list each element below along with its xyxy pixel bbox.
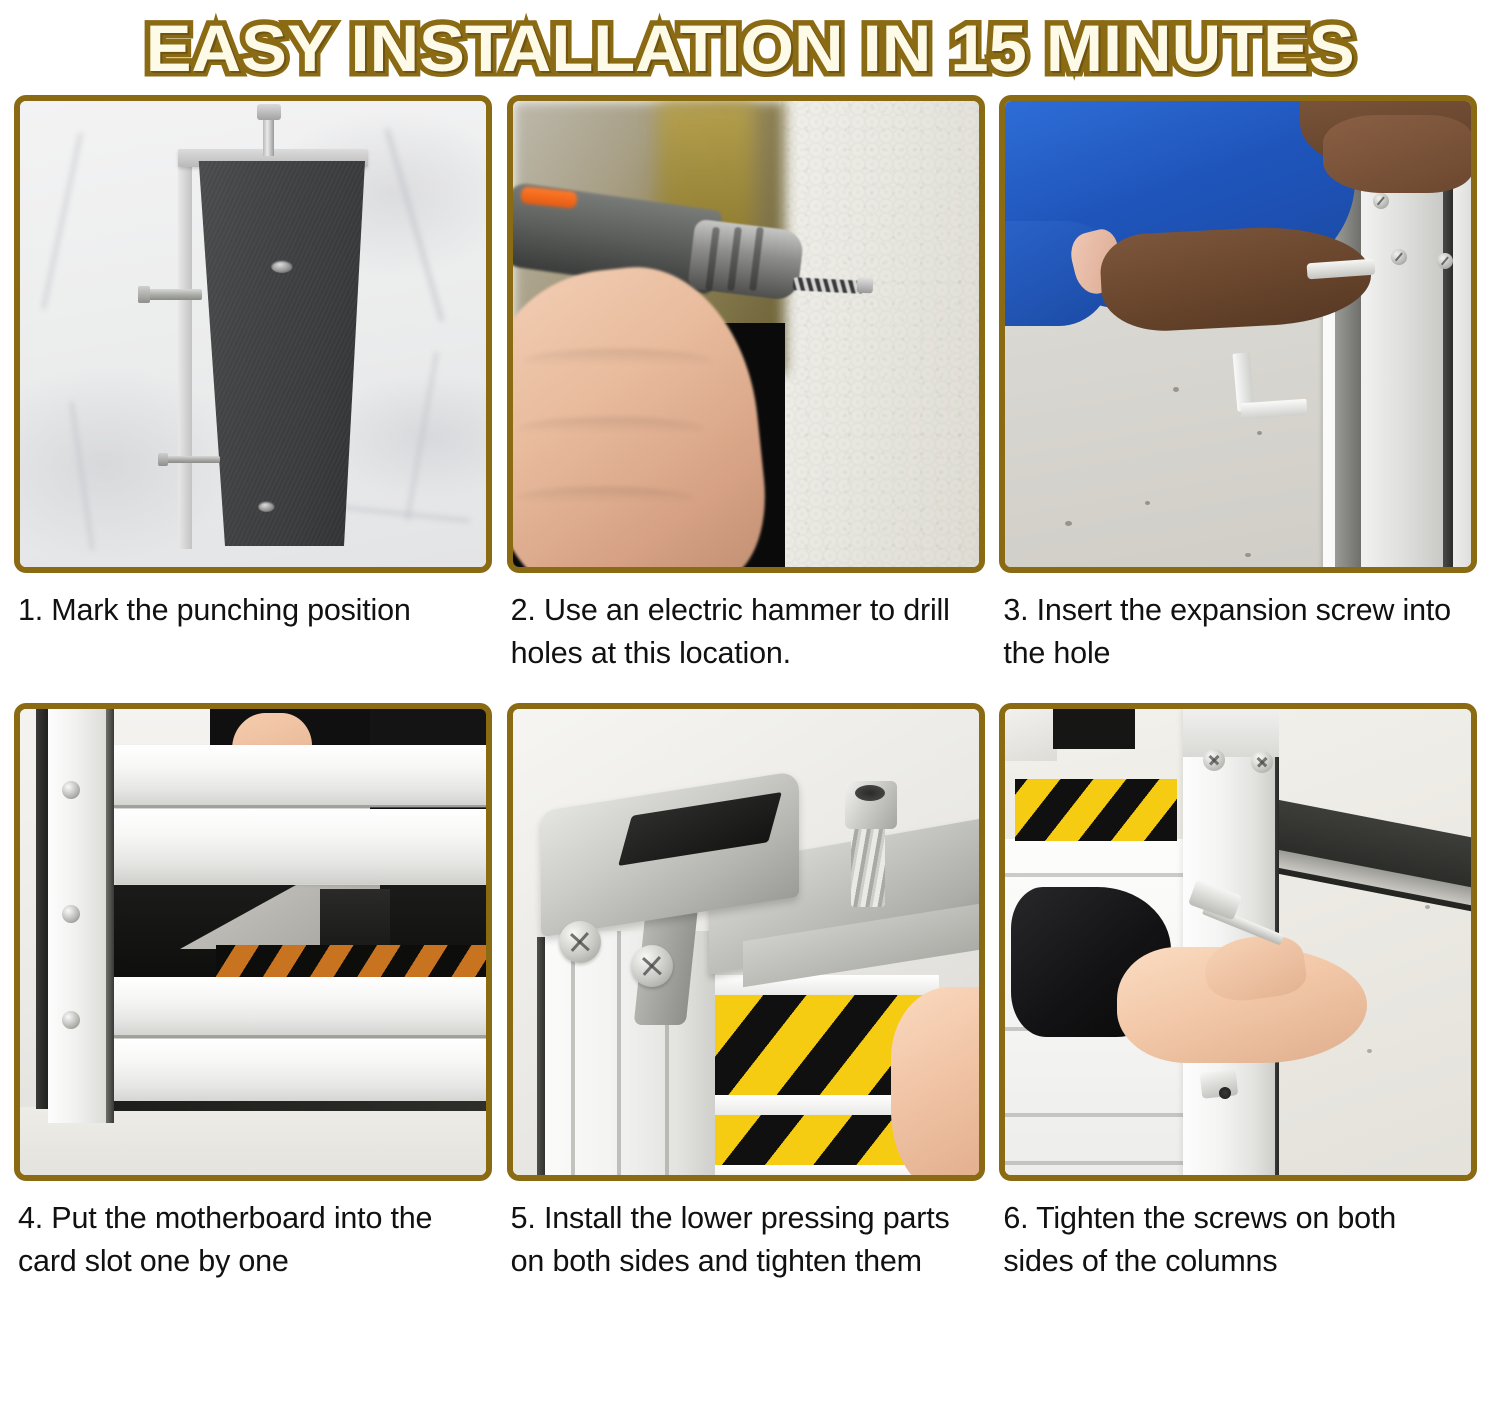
step-4-photo-frame [14,703,492,1181]
step-2-photo [513,101,979,567]
step-3-photo [1005,101,1471,567]
step-4-photo [20,709,486,1175]
steps-row-1: 1. Mark the punching position [14,95,1486,703]
step-1-photo-frame [14,95,492,573]
header-banner: EASY INSTALLATION IN 15 MINUTES [0,0,1500,95]
step-6-caption: 6. Tighten the screws on both sides of t… [999,1181,1477,1321]
step-card-1: 1. Mark the punching position [14,95,501,703]
step-3-photo-frame [999,95,1477,573]
step-6-photo-frame [999,703,1477,1181]
step-card-2: 2. Use an electric hammer to drill holes… [507,95,994,703]
step-1-caption: 1. Mark the punching position [14,573,492,703]
step-card-6: 6. Tighten the screws on both sides of t… [999,703,1486,1321]
installation-steps-grid: 1. Mark the punching position [0,95,1500,1321]
step-6-photo [1005,709,1471,1175]
steps-row-2: 4. Put the motherboard into the card slo… [14,703,1486,1321]
step-3-caption: 3. Insert the expansion screw into the h… [999,573,1477,703]
step-2-caption: 2. Use an electric hammer to drill holes… [507,573,985,703]
step-card-5: 5. Install the lower pressing parts on b… [507,703,994,1321]
step-card-4: 4. Put the motherboard into the card slo… [14,703,501,1321]
step-5-photo [513,709,979,1175]
step-1-photo [20,101,486,567]
step-5-caption: 5. Install the lower pressing parts on b… [507,1181,985,1321]
step-4-caption: 4. Put the motherboard into the card slo… [14,1181,492,1321]
page-title: EASY INSTALLATION IN 15 MINUTES [146,15,1355,81]
step-2-photo-frame [507,95,985,573]
step-5-photo-frame [507,703,985,1181]
step-card-3: 3. Insert the expansion screw into the h… [999,95,1486,703]
